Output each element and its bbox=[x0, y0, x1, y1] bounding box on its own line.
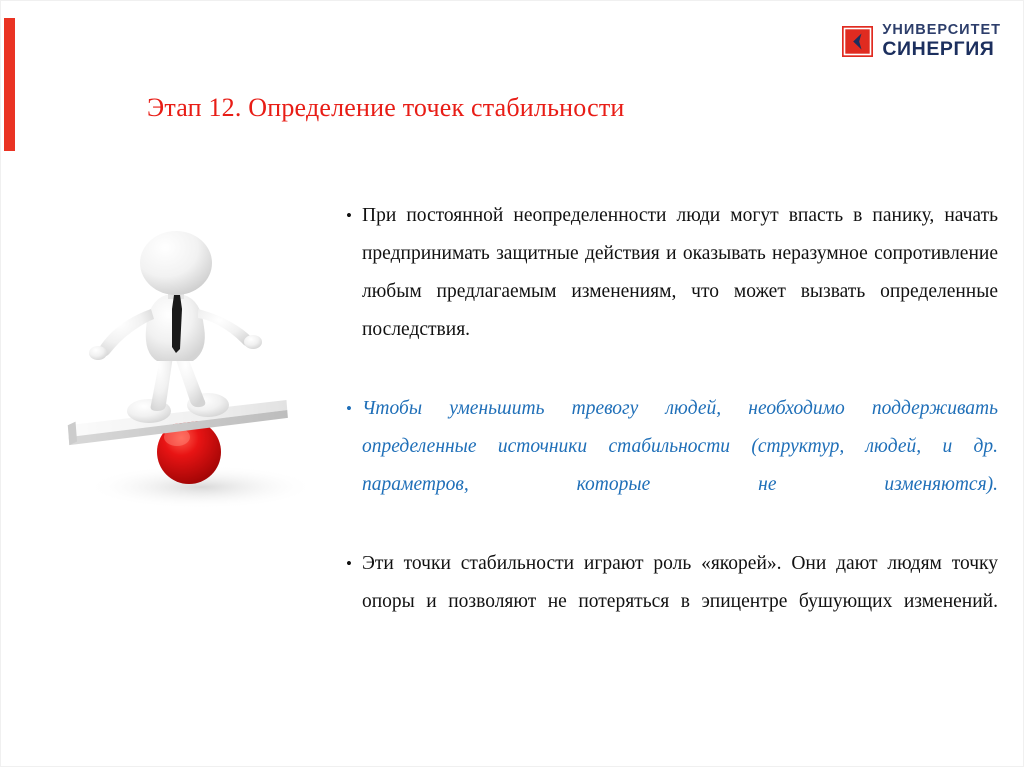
slide-canvas: УНИВЕРСИТЕТ СИНЕРГИЯ Этап 12. Определени… bbox=[0, 0, 1024, 767]
bullet-item: • Чтобы уменьшить тревогу людей, необход… bbox=[346, 390, 998, 542]
title-accent-bar bbox=[4, 18, 15, 151]
bullet-marker: • bbox=[346, 390, 362, 542]
bullet-text: Чтобы уменьшить тревогу людей, необходим… bbox=[362, 390, 998, 542]
bullet-text: Эти точки стабильности играют роль «якор… bbox=[362, 545, 998, 659]
balancing-figure-illustration bbox=[56, 229, 341, 519]
synergy-university-logo: УНИВЕРСИТЕТ СИНЕРГИЯ bbox=[842, 23, 1001, 59]
bullet-item: • Эти точки стабильности играют роль «як… bbox=[346, 545, 998, 659]
logo-wordmark: УНИВЕРСИТЕТ СИНЕРГИЯ bbox=[882, 23, 1001, 59]
slide-body: • При постоянной неопределенности люди м… bbox=[346, 197, 998, 661]
bullet-marker: • bbox=[346, 197, 362, 387]
bullet-marker: • bbox=[346, 545, 362, 659]
bullet-text: При постоянной неопределенности люди мог… bbox=[362, 197, 998, 387]
logo-word-university: УНИВЕРСИТЕТ bbox=[882, 23, 1001, 38]
logo-word-synergy: СИНЕРГИЯ bbox=[882, 40, 1001, 60]
slide-title: Этап 12. Определение точек стабильности bbox=[147, 93, 625, 123]
bullet-item: • При постоянной неопределенности люди м… bbox=[346, 197, 998, 387]
logo-chevron-left-icon bbox=[842, 26, 873, 57]
